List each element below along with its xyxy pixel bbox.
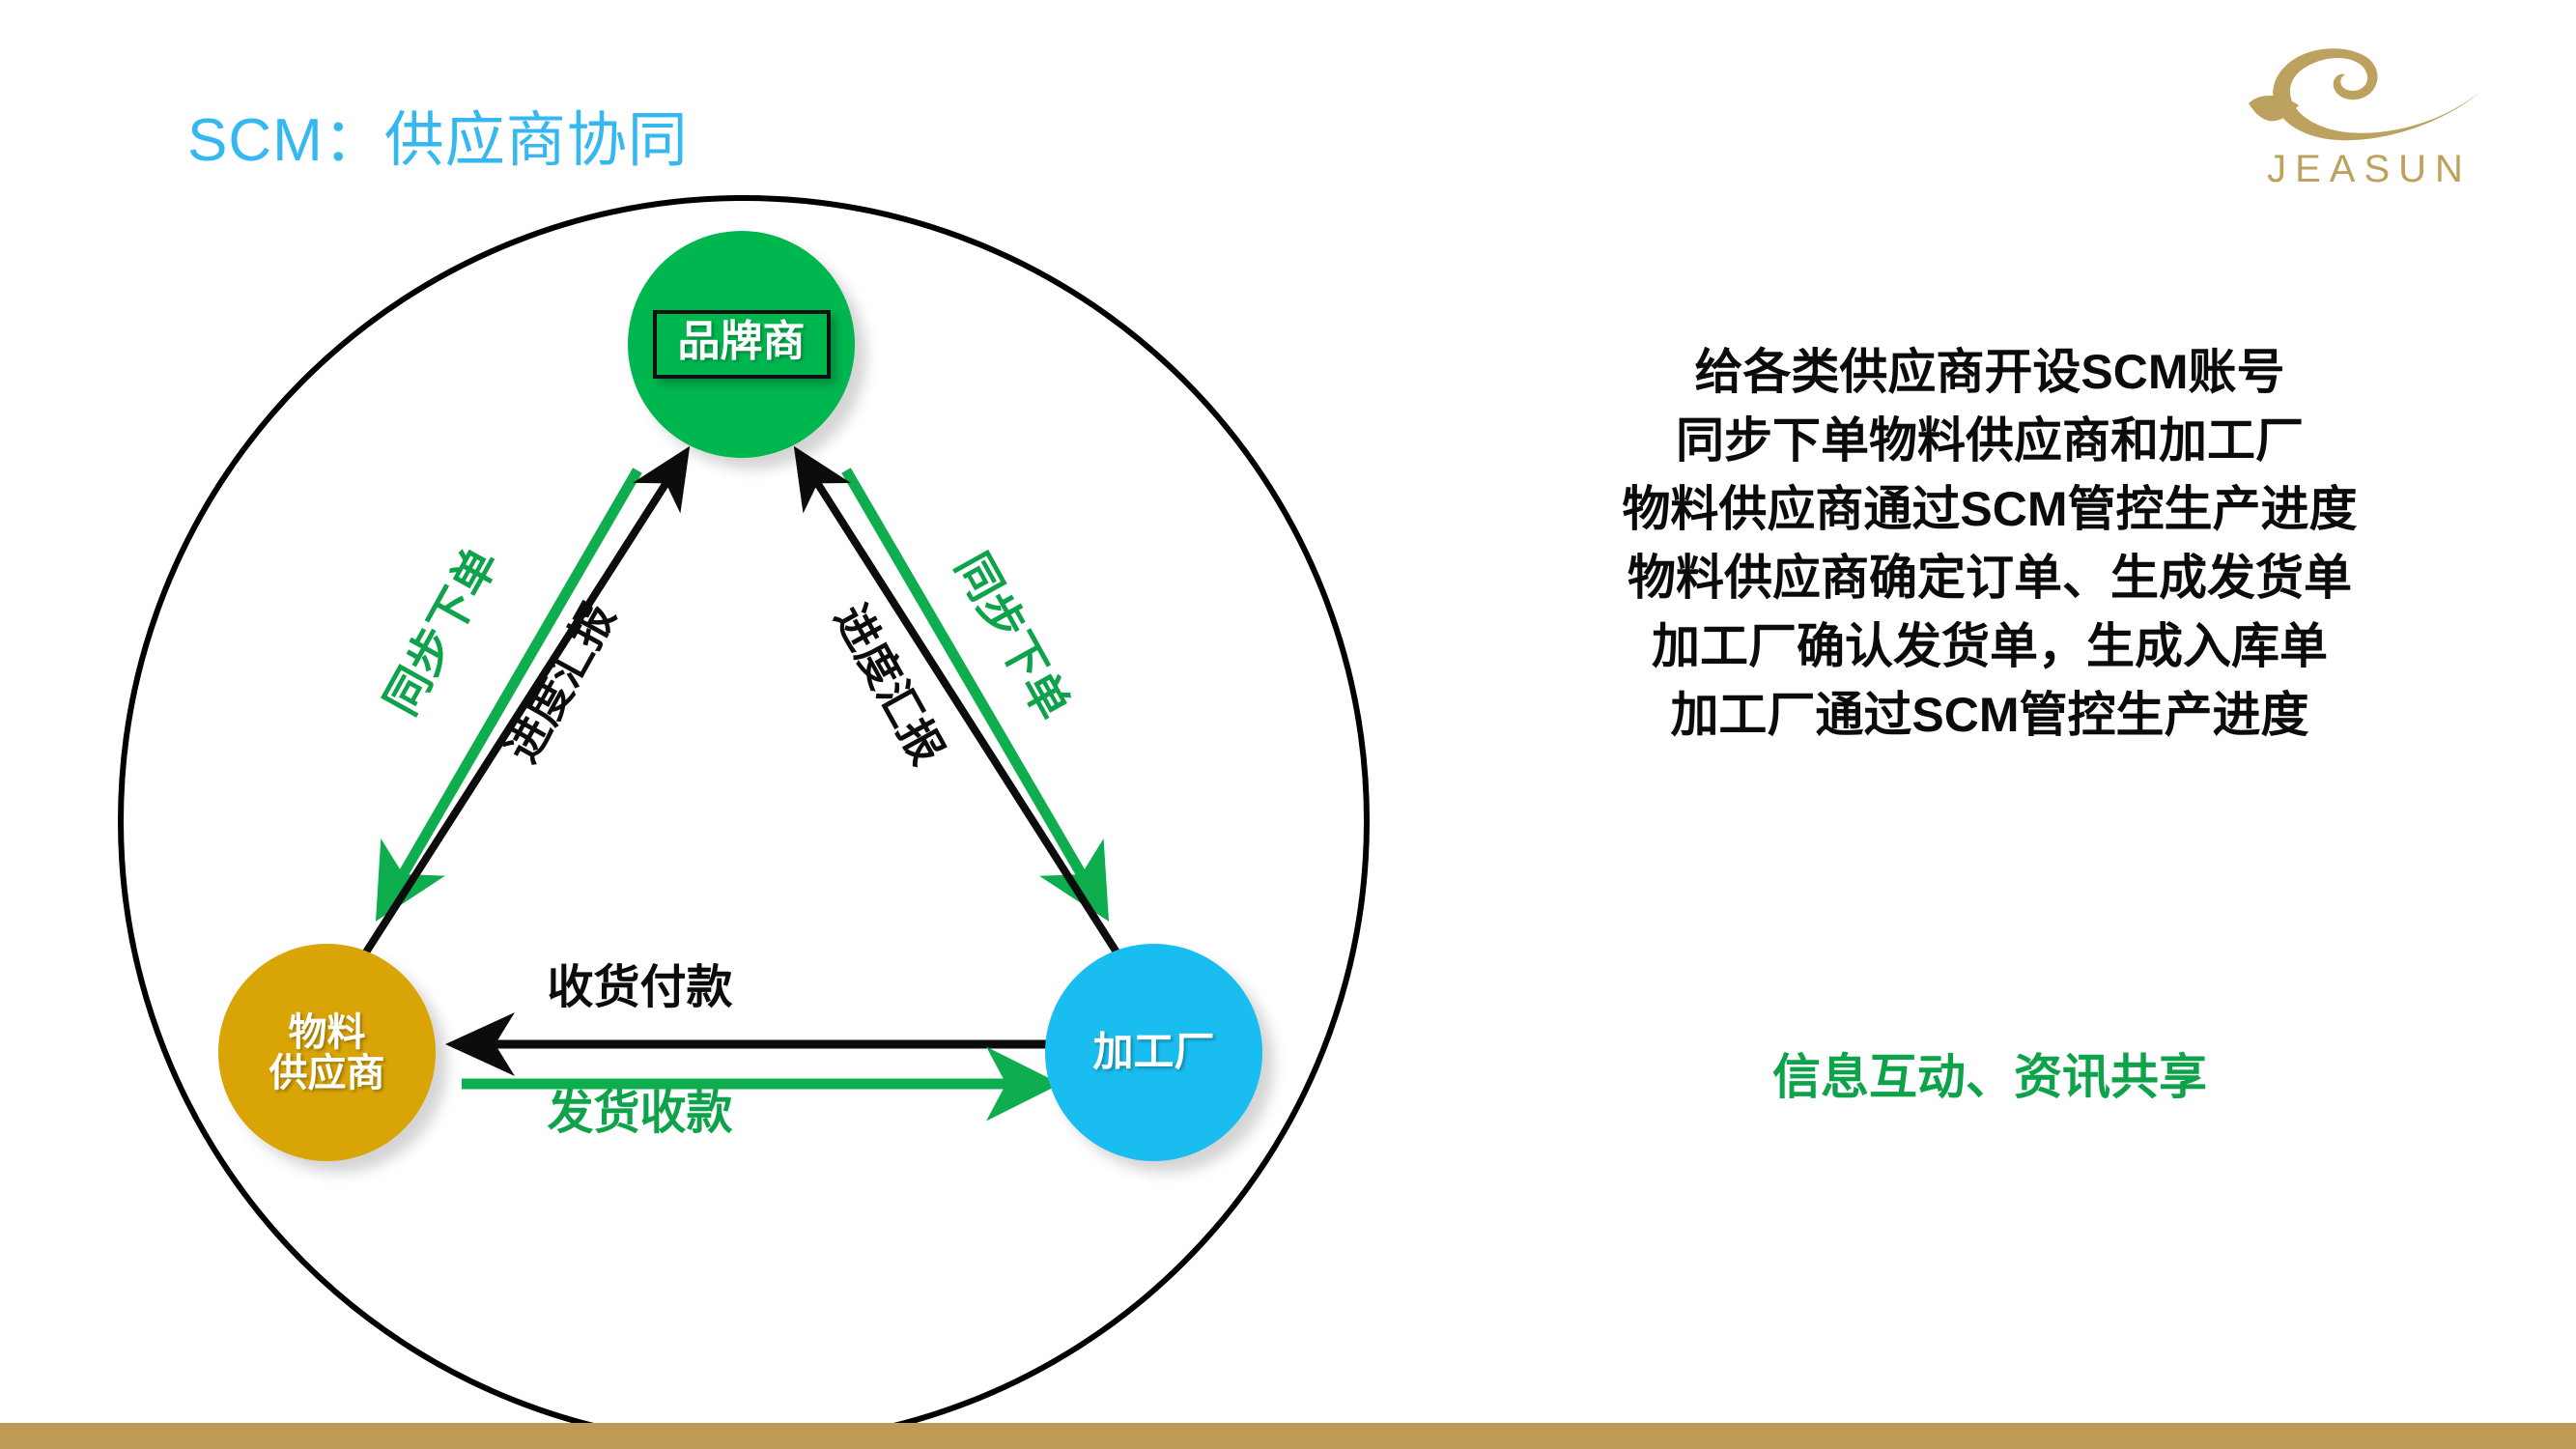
edge-label-supplier-to-factory: 发货收款 <box>0 1074 1507 1142</box>
feature-bullet-list: 给各类供应商开设SCM账号 同步下单物料供应商和加工厂 物料供应商通过SCM管控… <box>1526 338 2453 750</box>
footer-accent-bar <box>0 1423 2576 1449</box>
bullet-line: 加工厂确认发货单，生成入库单 <box>1526 612 2453 681</box>
node-brand-owner[interactable]: 品牌商 <box>628 231 855 458</box>
node-brand-owner-label: 品牌商 <box>653 310 831 378</box>
bullet-line: 物料供应商通过SCM管控生产进度 <box>1526 475 2453 544</box>
edge-factory-to-brand <box>801 457 1120 958</box>
logo-wordmark: JEASUN <box>2239 148 2500 191</box>
brand-logo: JEASUN <box>2239 43 2500 208</box>
node-material-supplier-label-line1: 物料 <box>289 1011 366 1054</box>
bullet-line: 同步下单物料供应商和加工厂 <box>1526 407 2453 475</box>
tagline-text: 信息互动、资讯共享 <box>1526 1038 2453 1108</box>
scm-collaboration-diagram: 品牌商 物料 供应商 加工厂 同步下单 进度汇报 同步下单 进度汇报 收货付款 … <box>0 0 1507 1449</box>
slide-canvas: SCM：供应商协同 JEASUN <box>0 0 2576 1449</box>
bullet-line: 加工厂通过SCM管控生产进度 <box>1526 681 2453 750</box>
jeasun-swoosh-icon <box>2239 43 2500 150</box>
node-processing-factory-label: 加工厂 <box>1092 1031 1214 1073</box>
bullet-line: 给各类供应商开设SCM账号 <box>1526 338 2453 407</box>
bullet-line: 物料供应商确定订单、生成发货单 <box>1526 544 2453 612</box>
edge-label-factory-to-supplier: 收货付款 <box>0 949 1507 1016</box>
diagram-vector-layer <box>0 0 1507 1449</box>
